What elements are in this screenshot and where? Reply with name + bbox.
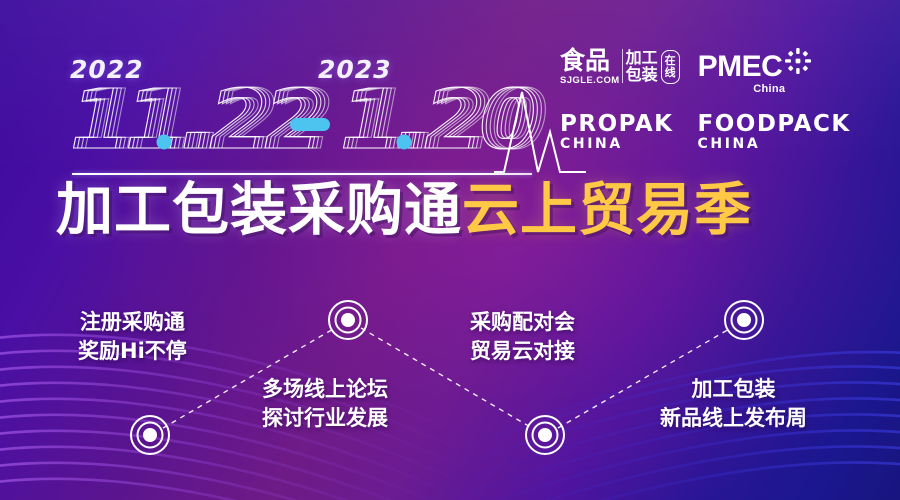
logo-cluster: 食品 SJGLE.COM 加工 包装 在 线 PMEC [560,48,872,166]
headline-gold-part: 云上贸易季 [462,178,752,242]
promo-banner: 2022 2023 11.22 11.22 11.22 11.22 1.20 1… [0,0,900,500]
date-dot-end [397,135,412,150]
pmec-logo[interactable]: PMEC [698,48,812,95]
page-title: 加工包装采购通 云上贸易季 [56,178,752,242]
foodpack-wordmark: FOODPACK [698,112,851,136]
sjgle-online-badge: 在 线 [661,50,680,84]
header-underline [72,173,532,175]
headline-white-part: 加工包装采购通 [56,178,462,242]
propak-region-label: CHINA [560,137,674,152]
feature-3-line-2: 贸易云对接 [470,337,575,366]
feature-1-line-2: 奖励Hi不停 [78,337,187,366]
foodpack-region-label: CHINA [698,137,851,152]
date-dot-start [157,135,172,150]
propak-logo[interactable]: PROPAK CHINA [560,112,674,152]
node-upper-right [725,301,763,339]
date-range-display: 11.22 11.22 11.22 11.22 1.20 1.20 1.20 1… [52,70,552,160]
propak-wordmark: PROPAK [560,112,674,136]
feature-3-line-1: 采购配对会 [470,308,575,337]
feature-2-line-1: 多场线上论坛 [262,375,388,404]
feature-1-line-1: 注册采购通 [78,308,187,337]
foodpack-logo[interactable]: FOODPACK CHINA [698,112,851,152]
sjgle-url: SJGLE.COM [560,75,620,86]
feature-4-line-1: 加工包装 [660,375,807,404]
starburst-dots-icon [785,48,811,74]
pmec-wordmark: PMEC [698,52,783,82]
feature-2-line-2: 探讨行业发展 [262,404,388,433]
node-lower-left [131,416,169,454]
pmec-region-label: China [753,83,785,95]
sjgle-chinese-name: 食品 [560,48,620,74]
node-upper-mid [329,301,367,339]
feature-item-3: 采购配对会 贸易云对接 [470,308,575,366]
node-lower-mid [526,416,564,454]
feature-4-line-2: 新品线上发布周 [660,404,807,433]
feature-item-1: 注册采购通 奖励Hi不停 [78,308,187,366]
sjgle-logo[interactable]: 食品 SJGLE.COM 加工 包装 在 线 [560,48,680,86]
feature-item-4: 加工包装 新品线上发布周 [660,375,807,433]
sjgle-mid-line1: 加工 [626,49,658,66]
sjgle-mid-line2: 包装 [626,66,658,83]
feature-item-2: 多场线上论坛 探讨行业发展 [262,375,388,433]
sjgle-badge-line2: 线 [665,67,676,79]
date-separator-dash [290,118,330,131]
